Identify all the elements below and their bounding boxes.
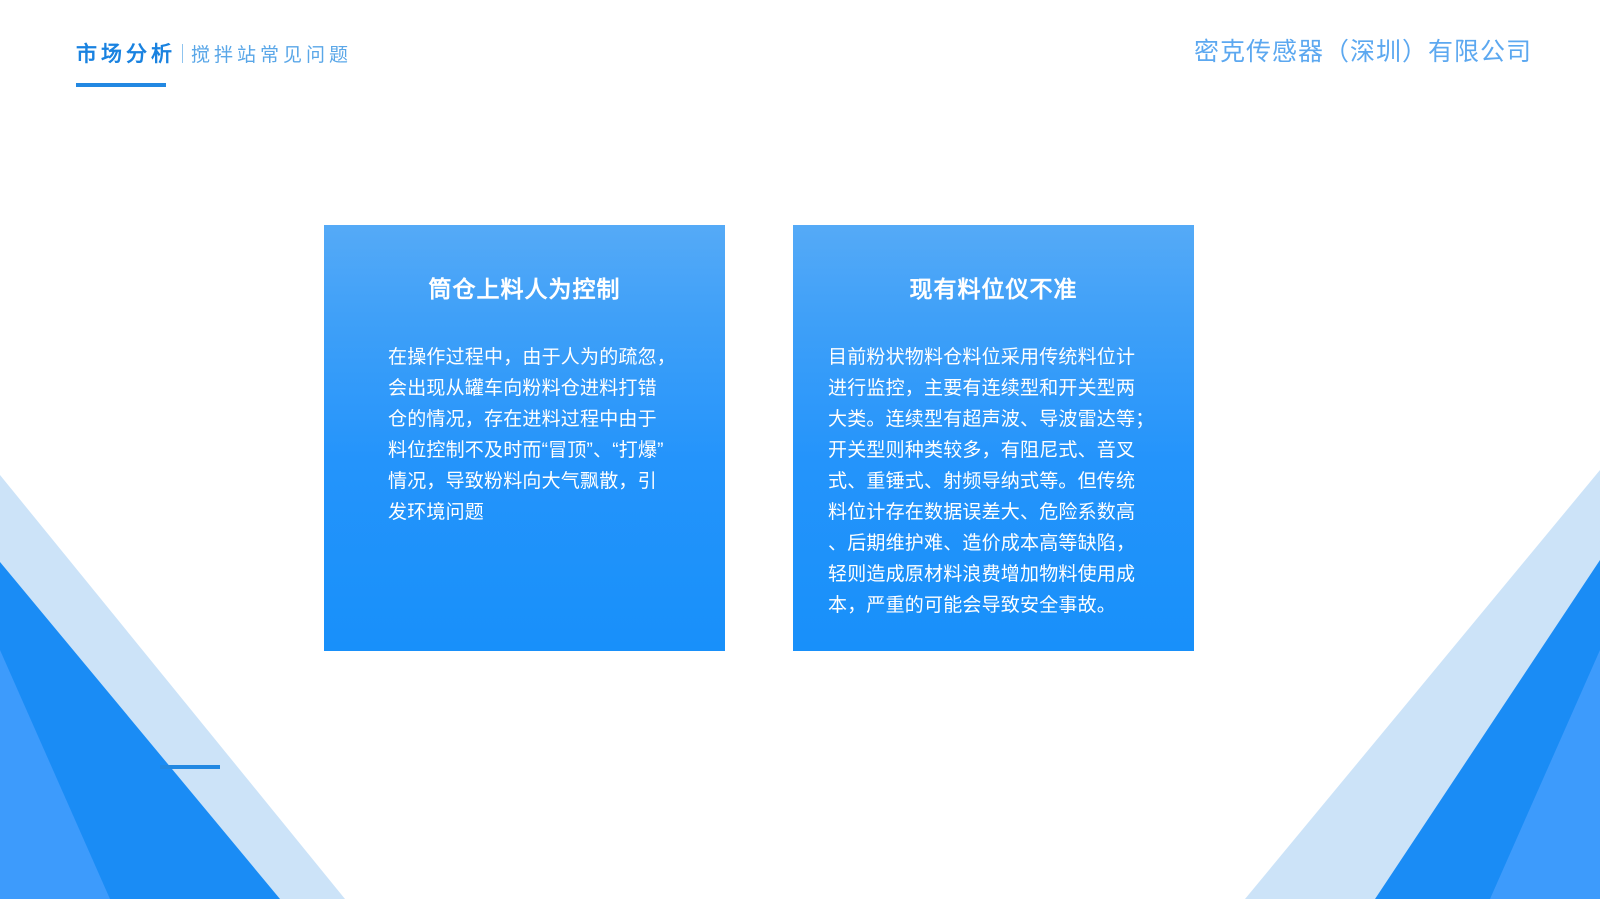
- bottom-accent-bar: [160, 765, 220, 769]
- deco-shape-left-blue: [0, 562, 280, 899]
- deco-shape-right-blue: [1375, 560, 1600, 899]
- title-separator: [182, 44, 183, 63]
- card-2-body: 目前粉状物料仓料位采用传统料位计 进行监控，主要有连续型和开关型两 大类。连续型…: [793, 304, 1194, 621]
- content-card-1: 筒仓上料人为控制 在操作过程中，由于人为的疏忽， 会出现从罐车向粉料仓进料打错 …: [324, 225, 725, 651]
- slide-header: 市场分析 搅拌站常见问题 密克传感器（深圳）有限公司: [0, 0, 1600, 110]
- title-underline-bar: [76, 83, 166, 87]
- page-subtitle: 搅拌站常见问题: [191, 46, 352, 65]
- card-1-body: 在操作过程中，由于人为的疏忽， 会出现从罐车向粉料仓进料打错 仓的情况，存在进料…: [324, 304, 725, 528]
- header-title-group: 市场分析 搅拌站常见问题: [76, 42, 352, 65]
- content-card-2: 现有料位仪不准 目前粉状物料仓料位采用传统料位计 进行监控，主要有连续型和开关型…: [793, 225, 1194, 651]
- page-title: 市场分析: [76, 44, 176, 65]
- card-1-title: 筒仓上料人为控制: [324, 225, 725, 304]
- deco-shape-left-lightblue: [0, 650, 110, 899]
- deco-shape-right-pale: [1245, 470, 1600, 899]
- deco-shape-left-pale: [0, 475, 345, 899]
- slide-canvas: 市场分析 搅拌站常见问题 密克传感器（深圳）有限公司 筒仓上料人为控制 在操作过…: [0, 0, 1600, 899]
- card-2-title: 现有料位仪不准: [793, 225, 1194, 304]
- company-name: 密克传感器（深圳）有限公司: [1194, 40, 1532, 65]
- deco-shape-right-lightblue: [1490, 650, 1600, 899]
